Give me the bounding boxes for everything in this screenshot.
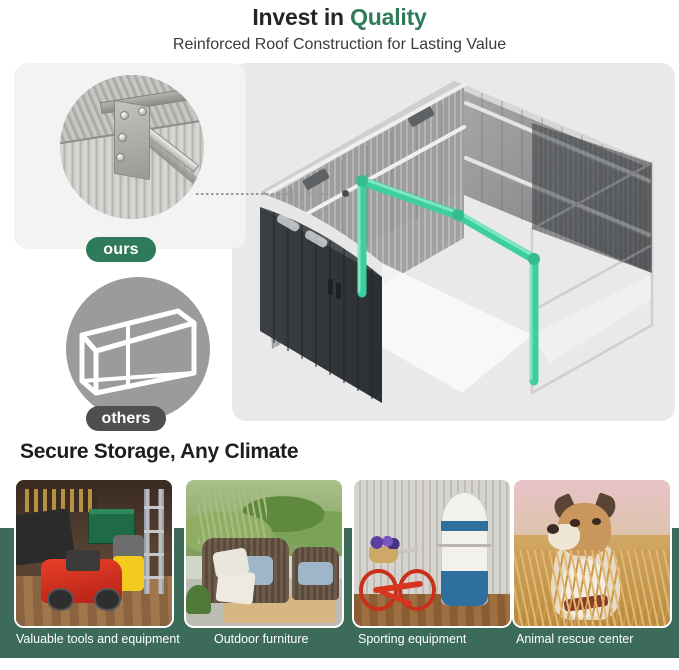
gallery xyxy=(0,478,679,630)
photo-animal-art xyxy=(514,480,670,626)
gallery-caption: Sporting equipment xyxy=(358,632,466,646)
gallery-caption: Valuable tools and equipment xyxy=(16,632,180,646)
comparison-section: ours others xyxy=(0,63,679,435)
page-subtitle: Reinforced Roof Construction for Lasting… xyxy=(0,34,679,56)
gallery-photo-animal xyxy=(512,478,672,628)
gallery-caption: Animal rescue center xyxy=(516,632,633,646)
bolt-icon xyxy=(138,107,147,116)
leader-line xyxy=(196,193,326,195)
gallery-photo-tools xyxy=(14,478,174,628)
infographic-page: Invest in Quality Reinforced Roof Constr… xyxy=(0,0,679,670)
ours-badge: ours xyxy=(86,237,156,262)
bolt-icon xyxy=(120,111,129,120)
page-title: Invest in Quality xyxy=(0,4,679,31)
plain-frame-wireframe xyxy=(66,277,210,421)
page-title-plain: Invest in xyxy=(252,4,350,30)
section-heading: Secure Storage, Any Climate xyxy=(20,440,298,464)
ours-closeup-circle xyxy=(60,75,204,219)
bolt-icon xyxy=(116,153,125,162)
photo-furniture-art xyxy=(186,480,342,626)
page-title-accent: Quality xyxy=(350,4,427,30)
ours-card xyxy=(14,63,246,249)
gallery-photo-furniture xyxy=(184,478,344,628)
photo-sporting-art xyxy=(354,480,510,626)
gallery-photo-sporting xyxy=(352,478,512,628)
shed-illustration-card xyxy=(232,63,675,421)
others-badge: others xyxy=(86,406,166,431)
gallery-caption: Outdoor furniture xyxy=(214,632,309,646)
header: Invest in Quality Reinforced Roof Constr… xyxy=(0,0,679,56)
photo-tools-art xyxy=(16,480,172,626)
leader-endpoint-dot xyxy=(342,190,349,197)
shed-diagram xyxy=(232,63,675,421)
bolt-icon xyxy=(118,133,127,142)
others-circle xyxy=(66,277,210,421)
